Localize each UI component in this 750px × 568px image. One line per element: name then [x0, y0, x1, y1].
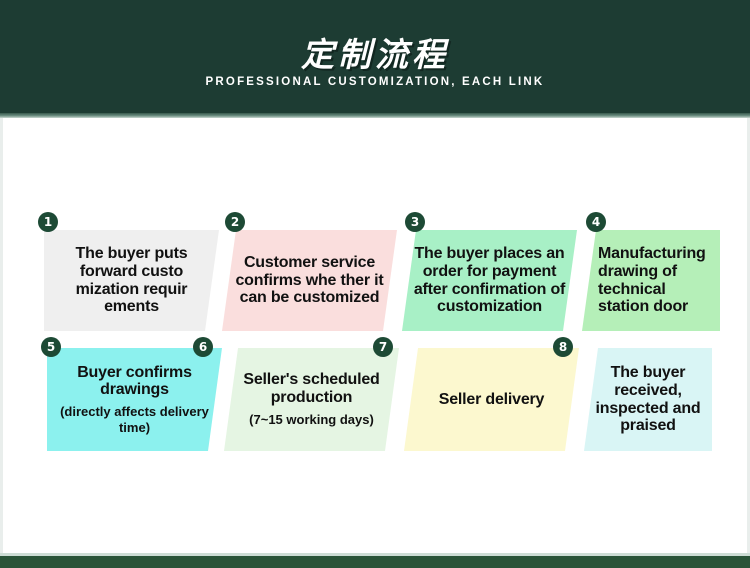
step-3-badge: 3: [405, 212, 425, 232]
step-7-text: Seller delivery: [404, 348, 579, 451]
step-8-text: The buyer received, inspected and praise…: [584, 348, 712, 451]
step-4-label: Manufacturing drawing of technical stati…: [598, 245, 710, 317]
step-5: Buyer confirms drawings (directly affect…: [47, 348, 222, 451]
step-6-sublabel: (7~15 working days): [249, 412, 374, 428]
step-3-label: The buyer places an order for payment af…: [412, 245, 567, 317]
step-8-label: The buyer received, inspected and praise…: [594, 364, 702, 436]
step-6: Seller's scheduled production (7~15 work…: [224, 348, 399, 451]
step-7: Seller delivery: [404, 348, 579, 451]
step-7-label: Seller delivery: [439, 391, 545, 409]
page-subtitle: PROFESSIONAL CUSTOMIZATION, EACH LINK: [0, 76, 750, 88]
step-5-label: Buyer confirms drawings: [57, 364, 212, 400]
footer-band: [0, 556, 750, 568]
step-3: The buyer places an order for payment af…: [402, 230, 577, 331]
step-1-badge: 1: [38, 212, 58, 232]
step-2-text: Customer service confirms whe ther it ca…: [222, 230, 397, 331]
step-5-badge: 5: [41, 337, 61, 357]
step-1-label: The buyer puts forward custo mization re…: [54, 245, 209, 317]
step-7-badge: 7: [373, 337, 393, 357]
step-4-text: Manufacturing drawing of technical stati…: [582, 230, 720, 331]
step-8: The buyer received, inspected and praise…: [584, 348, 712, 451]
left-rail: [0, 118, 3, 556]
step-1-text: The buyer puts forward custo mization re…: [44, 230, 219, 331]
step-2: Customer service confirms whe ther it ca…: [222, 230, 397, 331]
step-3-text: The buyer places an order for payment af…: [402, 230, 577, 331]
step-2-badge: 2: [225, 212, 245, 232]
step-6-text: Seller's scheduled production (7~15 work…: [224, 348, 399, 451]
step-5-sublabel: (directly affects delivery time): [57, 404, 212, 435]
step-8-badge: 8: [553, 337, 573, 357]
step-6-badge: 6: [193, 337, 213, 357]
step-1: The buyer puts forward custo mization re…: [44, 230, 219, 331]
step-4: Manufacturing drawing of technical stati…: [582, 230, 720, 331]
page-title: 定制流程: [0, 28, 750, 76]
step-5-text: Buyer confirms drawings (directly affect…: [47, 348, 222, 451]
header-underline: [0, 113, 750, 118]
custom-process-infographic: 定制流程 PROFESSIONAL CUSTOMIZATION, EACH LI…: [0, 0, 750, 568]
step-6-label: Seller's scheduled production: [234, 371, 389, 407]
step-2-label: Customer service confirms whe ther it ca…: [232, 254, 387, 308]
step-4-badge: 4: [586, 212, 606, 232]
